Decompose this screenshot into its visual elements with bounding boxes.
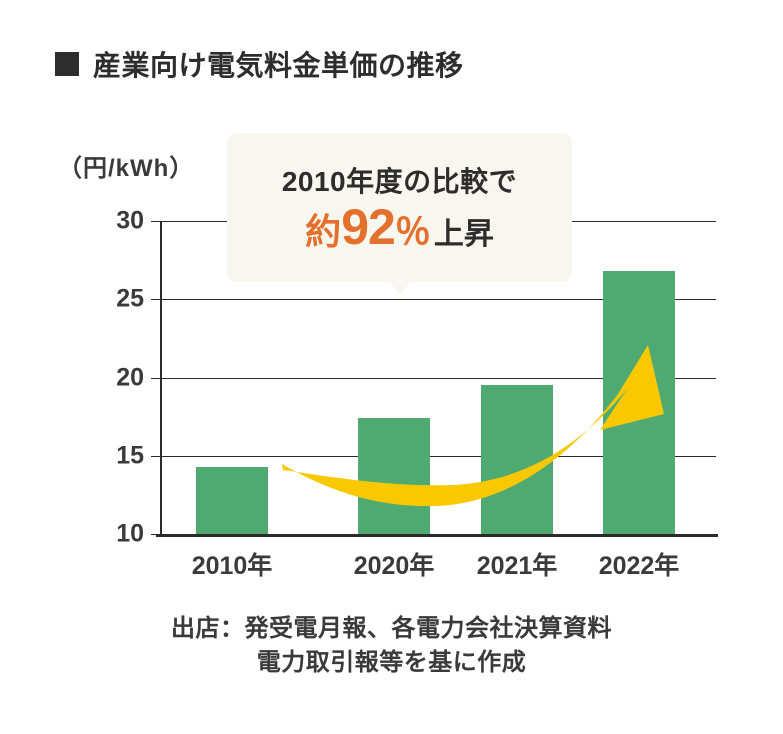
callout-bubble: 2010年度の比較で 約 92 ％ 上昇 (227, 133, 572, 282)
callout-line-2: 約 92 ％ 上昇 (305, 202, 494, 255)
callout-prefix: 約 (305, 203, 341, 255)
y-axis-tick (151, 534, 160, 535)
filled-square-icon (55, 52, 79, 76)
callout-suffix: 上昇 (434, 209, 494, 253)
y-axis-tick-label: 15 (116, 441, 144, 470)
bar-2022年 (603, 271, 675, 534)
chart-root: 産業向け電気料金単価の推移 （円/kWh） 1015202530 2010年20… (0, 0, 783, 734)
page-title-text: 産業向け電気料金単価の推移 (93, 44, 464, 84)
callout-number: 92 (341, 202, 395, 252)
source-note: 出店：発受電月報、各電力会社決算資料 電力取引報等を基に作成 (0, 612, 783, 680)
x-axis-line (156, 534, 718, 537)
y-axis-tick-label: 25 (116, 285, 144, 314)
y-axis-tick-label: 10 (116, 520, 144, 549)
bar-2010年 (196, 467, 268, 534)
y-axis-tick (151, 221, 160, 222)
bar-2020年 (358, 418, 430, 534)
bar-2021年 (481, 385, 553, 534)
x-axis-tick-label: 2010年 (192, 546, 273, 582)
x-axis-tick-label: 2021年 (477, 546, 558, 582)
y-axis-tick (151, 299, 160, 300)
page-title: 産業向け電気料金単価の推移 (55, 44, 464, 84)
x-axis-tick-label: 2022年 (599, 546, 680, 582)
source-note-line-1: 出店：発受電月報、各電力会社決算資料 (0, 612, 783, 646)
callout-percent-sign: ％ (395, 203, 431, 255)
y-axis-tick-label: 30 (116, 207, 144, 236)
source-note-line-2: 電力取引報等を基に作成 (0, 646, 783, 680)
y-axis-tick-label: 20 (116, 363, 144, 392)
y-axis-tick (151, 456, 160, 457)
y-axis-tick (151, 378, 160, 379)
x-axis-tick-label: 2020年 (354, 546, 435, 582)
callout-line-1: 2010年度の比較で (282, 160, 517, 200)
y-axis-unit-label: （円/kWh） (58, 148, 194, 183)
